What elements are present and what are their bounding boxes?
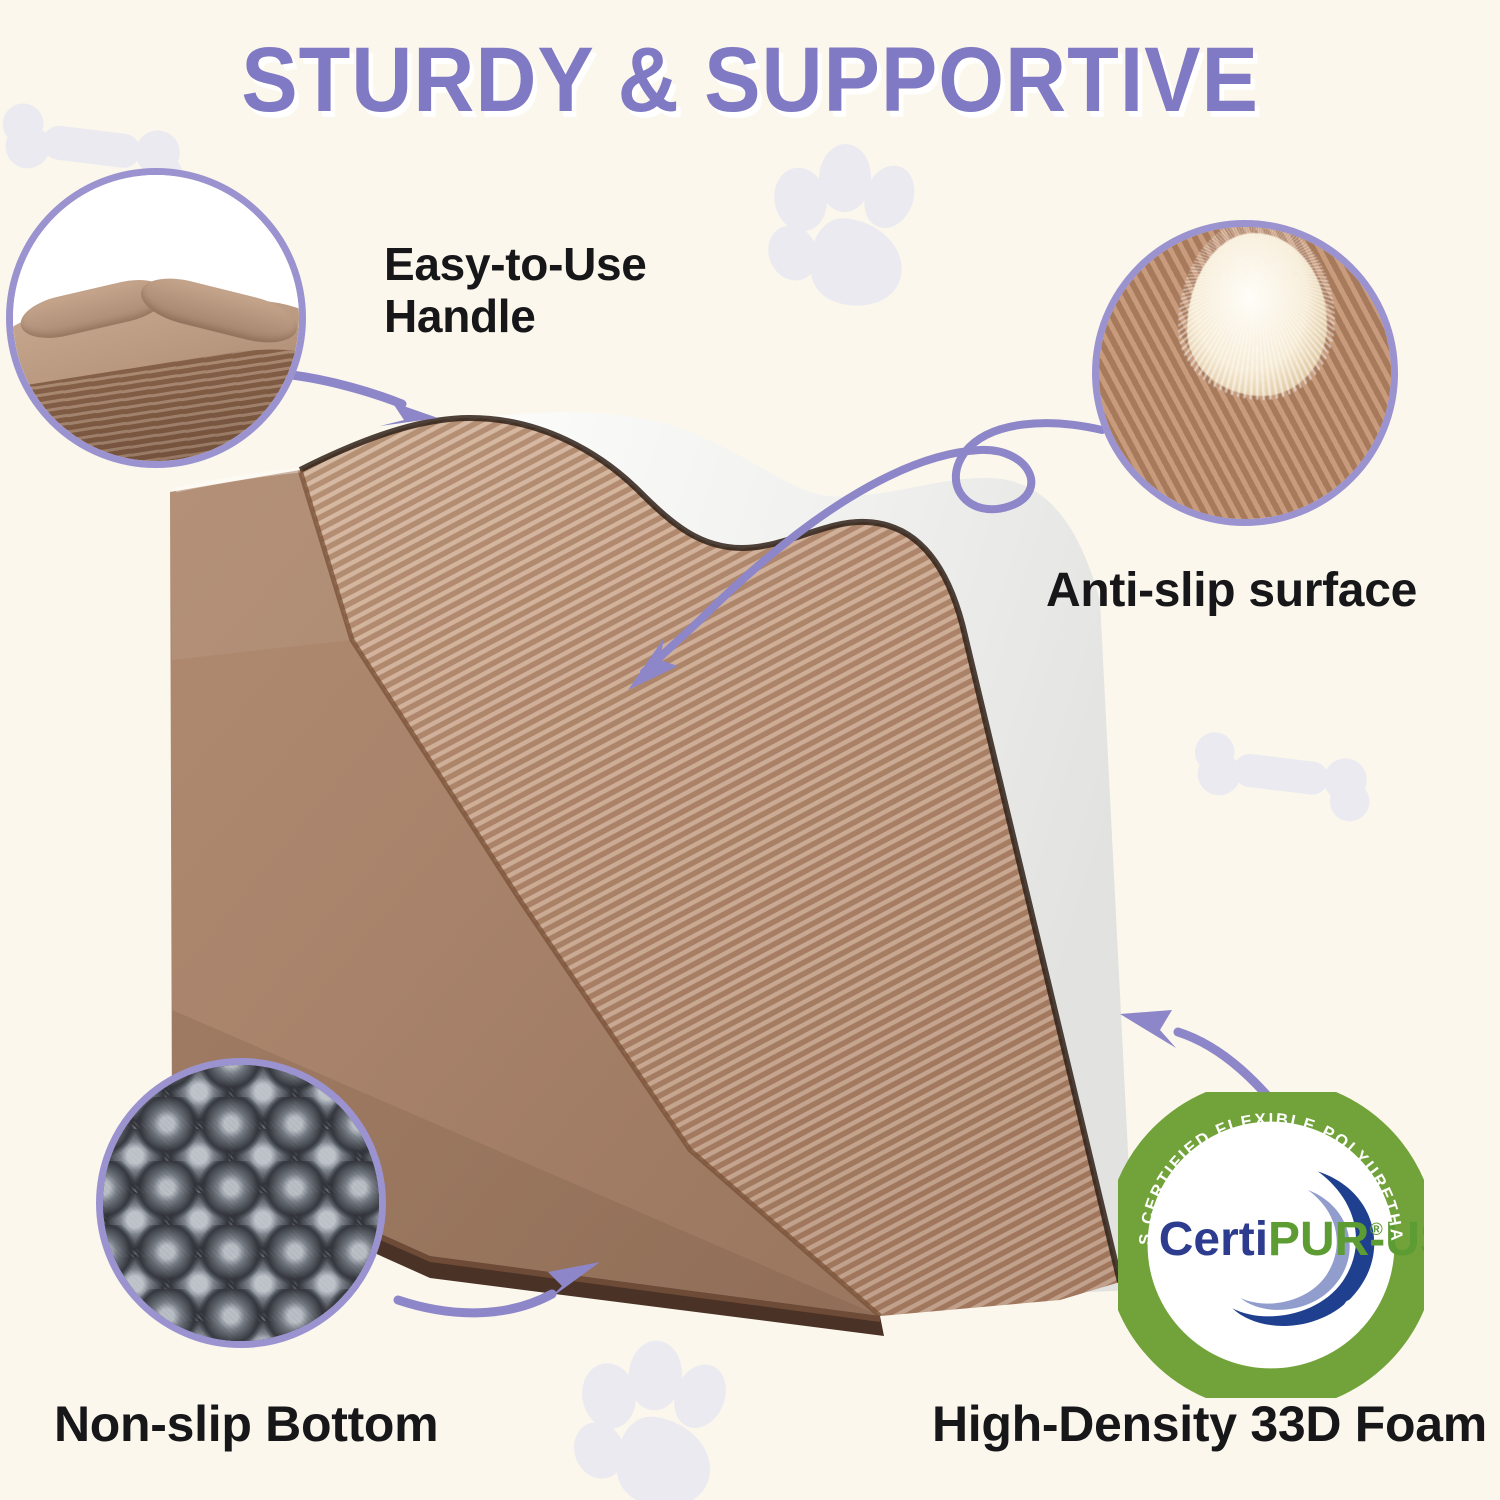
certipur-badge-icon: CertiPUR-US ® CONTAINS CERTIFIED FLEXIBL… [1118,1092,1424,1398]
label-foam: High-Density 33D Foam [932,1396,1487,1453]
paw-on-corduroy-icon [1099,227,1391,519]
detail-circle-handle[interactable] [6,168,306,468]
label-non-slip-text: Non-slip Bottom [54,1396,438,1453]
detail-circle-anti-slip[interactable] [1092,220,1398,526]
label-foam-text: High-Density 33D Foam [932,1396,1487,1453]
detail-circle-non-slip[interactable] [96,1058,386,1348]
infographic-canvas: STURDY & SUPPORTIVE [0,0,1500,1500]
label-handle-line1: Easy-to-Use [384,238,647,290]
label-handle-line2: Handle [384,290,647,342]
handle-closeup-icon [13,175,299,461]
label-anti-slip-text: Anti-slip surface [1046,564,1417,619]
certipur-registered-mark: ® [1370,1219,1383,1239]
label-anti-slip: Anti-slip surface [1046,564,1417,619]
certipur-wordmark-prefix: Certi [1159,1213,1268,1266]
svg-text:CertiPUR-US: CertiPUR-US [1159,1213,1424,1266]
label-non-slip-bottom: Non-slip Bottom [54,1396,438,1453]
label-handle: Easy-to-Use Handle [384,238,647,343]
grip-dots-icon [103,1065,379,1341]
